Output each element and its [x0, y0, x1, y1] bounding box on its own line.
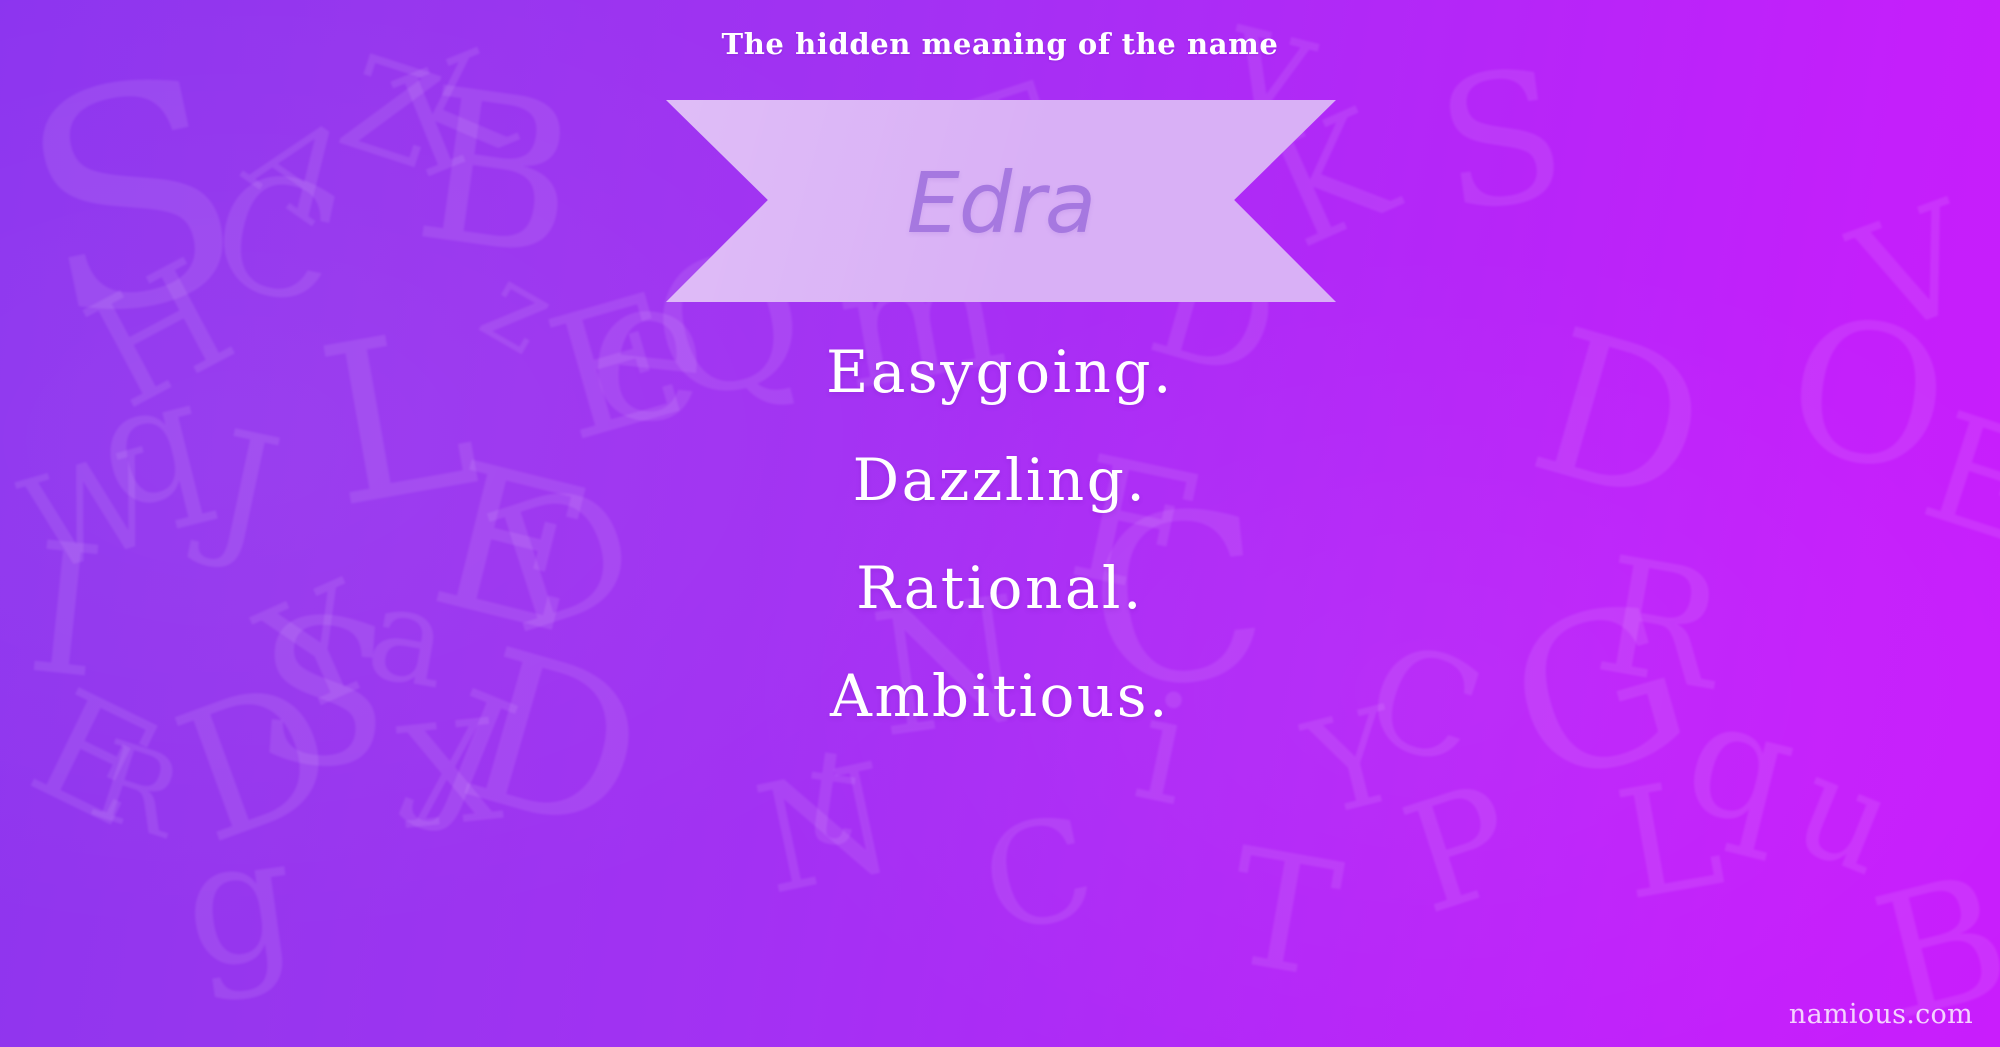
- site-watermark: namious.com: [1789, 999, 1973, 1030]
- page-title: The hidden meaning of the name: [0, 27, 2000, 61]
- trait-line: Easygoing.: [0, 318, 2000, 426]
- trait-list: Easygoing. Dazzling. Rational. Ambitious…: [0, 318, 2000, 750]
- name-label: Edra: [907, 161, 1095, 245]
- trait-line: Ambitious.: [0, 642, 2000, 750]
- trait-line: Rational.: [0, 534, 2000, 642]
- trait-line: Dazzling.: [0, 426, 2000, 534]
